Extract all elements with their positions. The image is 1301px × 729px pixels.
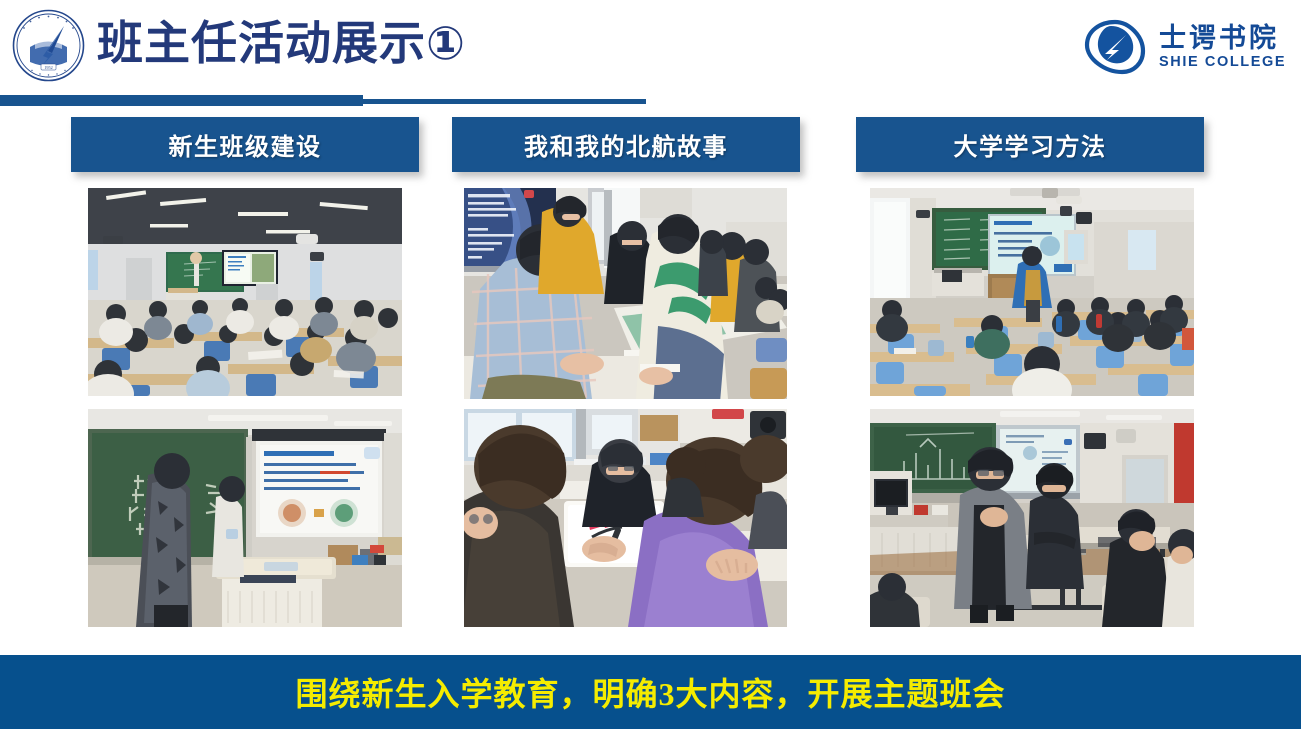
- column-header-3[interactable]: 大学学习方法: [856, 117, 1204, 172]
- svg-text:1952: 1952: [44, 65, 52, 70]
- column-header-label: 大学学习方法: [954, 127, 1107, 162]
- brand-name-cn: 士谔书院: [1159, 23, 1286, 53]
- photo-whiteboard-teamwork: [464, 409, 787, 627]
- shie-college-swoosh-icon: [1081, 17, 1151, 77]
- brand-text: 士谔书院 SHIE COLLEGE: [1159, 23, 1286, 71]
- shie-college-logo: 士谔书院 SHIE COLLEGE: [1081, 14, 1289, 80]
- photo-classroom-presentation: [870, 188, 1194, 396]
- footer-banner-text: 围绕新生入学教育，明确3大内容，开展主题班会: [295, 669, 1005, 715]
- photo-chalkboard-writing: [88, 409, 402, 627]
- slide-header: 1952 班主任活动展示① 士谔书院 SHIE: [0, 0, 1301, 106]
- column-header-2[interactable]: 我和我的北航故事: [452, 117, 800, 172]
- column-header-label: 我和我的北航故事: [524, 127, 728, 162]
- brand-name-en: SHIE COLLEGE: [1159, 53, 1286, 71]
- photo-group-discussion-table: [464, 188, 787, 399]
- photo-lecture-hall: [88, 188, 402, 396]
- column-header-1[interactable]: 新生班级建设: [71, 117, 419, 172]
- page-title: 班主任活动展示①: [97, 11, 466, 75]
- beihang-university-seal-icon: 1952: [12, 9, 85, 82]
- title-rule-thin: [363, 99, 646, 104]
- photo-two-presenters: [870, 409, 1194, 627]
- column-header-label: 新生班级建设: [169, 127, 322, 162]
- title-rule-thick: [0, 95, 363, 106]
- content-columns: 新生班级建设: [0, 106, 1301, 649]
- footer-banner: 围绕新生入学教育，明确3大内容，开展主题班会: [0, 655, 1301, 729]
